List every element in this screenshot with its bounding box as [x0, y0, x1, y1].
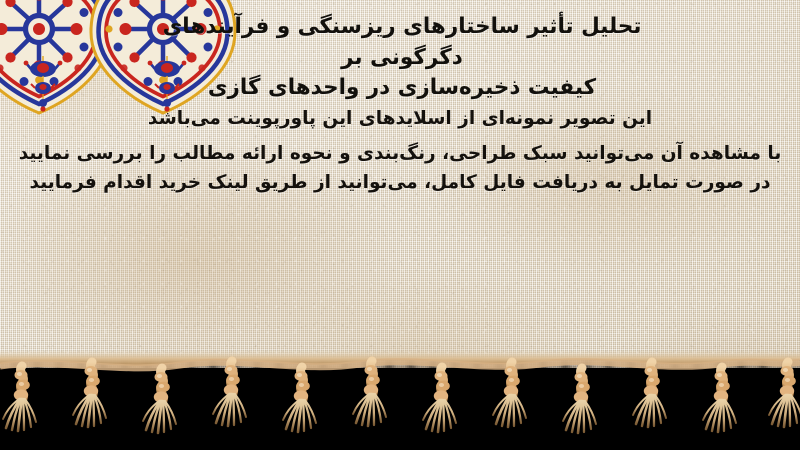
body-line-sample-notice: این تصویر نمونه‌ای از اسلایدهای این پاور… — [0, 110, 800, 129]
slide-title-line-2: کیفیت ذخیره‌سازی در واحدهای گازی — [122, 73, 682, 104]
slide-title: تحلیل تأثیر ساختارهای ریزسنگی و فرآیندها… — [122, 12, 682, 104]
carpet-fringe-tassels — [0, 350, 800, 450]
slide-title-line-1: تحلیل تأثیر ساختارهای ریزسنگی و فرآیندها… — [122, 12, 682, 73]
powerpoint-slide-preview: تحلیل تأثیر ساختارهای ریزسنگی و فرآیندها… — [0, 0, 800, 450]
body-line-purchase-link: در صورت تمایل به دریافت فایل کامل، می‌تو… — [0, 174, 800, 193]
slide-body-text: این تصویر نمونه‌ای از اسلایدهای این پاور… — [0, 110, 800, 204]
body-line-design-review: با مشاهده آن می‌توانید سبک طراحی، رنگ‌بن… — [0, 145, 800, 164]
